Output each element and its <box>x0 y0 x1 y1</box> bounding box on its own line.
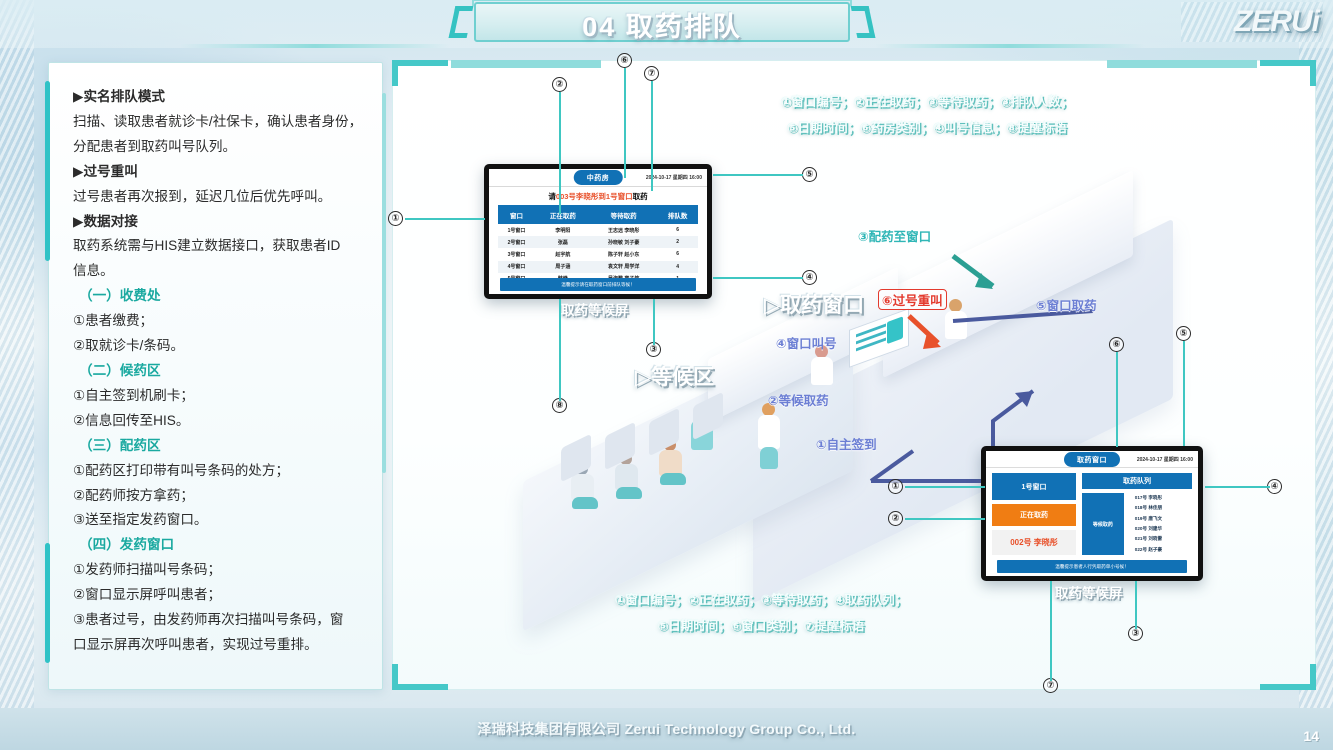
queue-cell-count: 2 <box>657 236 698 248</box>
step-label-window-call: ④窗口叫号 <box>776 333 837 352</box>
marker-win-2: ② <box>888 511 903 526</box>
step-label-self-checkin: ①自主签到 <box>816 434 877 453</box>
window-screen-body: 1号窗口 正在取药 002号 李晓彤 取药队列 等候取药 017号 李晓彤018… <box>986 468 1198 560</box>
legend-bottom-line-2: ⑤日期时间；⑥窗口类别；⑦提醒标语 <box>551 613 971 639</box>
table-row: 2号窗口张磊孙晓敏 刘子豪2 <box>498 236 699 248</box>
window-screen-datetime: 2024-10-17 星期四 16:00 <box>1137 456 1193 463</box>
lead-win-2 <box>905 518 985 520</box>
step-label-recall-missed: ⑥过号重叫 <box>878 289 947 310</box>
window-screen-tip: 温馨提示患者人行凭取药单小号候！ <box>997 560 1188 573</box>
left-hatch-decoration <box>0 0 34 750</box>
queue-cell-window: 2号窗口 <box>498 236 536 248</box>
list-item: 020号 刘建华 <box>1135 526 1192 532</box>
page-title: 04 取药排队 <box>452 2 872 46</box>
waiting-screen-device[interactable]: 中药房 2024-10-17 星期四 16:00 请003号李晓彤到1号窗口取药… <box>484 164 712 299</box>
header-left-line <box>180 44 450 48</box>
queue-cell-count: 4 <box>657 261 698 273</box>
waiting-screen-caption: 取药等候屏 <box>561 299 629 319</box>
queue-cell-waiting: 孙晓敏 刘子豪 <box>590 236 656 248</box>
legend-bottom-line-1: ①窗口编号；②正在取药；③等待取药；④取药队列； <box>551 587 971 613</box>
header-right-line <box>875 44 1145 48</box>
queue-column-header: 排队数 <box>657 205 698 224</box>
description-line: 过号患者再次报到，延迟几位后优先呼叫。 <box>73 185 362 210</box>
window-screen-display: 取药窗口 2024-10-17 星期四 16:00 1号窗口 正在取药 002号… <box>986 451 1198 576</box>
queue-column-header: 窗口 <box>498 205 536 224</box>
queue-cell-window: 3号窗口 <box>498 248 536 260</box>
description-line: （一）收费处 <box>73 284 362 309</box>
queue-row: 等候取药 017号 李晓彤018号 林佳朋019号 唐飞文020号 刘建华021… <box>1082 493 1192 555</box>
description-line: 分配患者到取药叫号队列。 <box>73 135 362 160</box>
lead-win-7 <box>1050 581 1052 681</box>
stage-bar-top-left <box>451 60 601 68</box>
list-item: 021号 刘晓雷 <box>1135 536 1192 542</box>
queue-table-body: 1号窗口李明阳王志远 李晓彤62号窗口张磊孙晓敏 刘子豪23号窗口赵宇航陈子轩 … <box>498 224 699 285</box>
call-highlight: 003号李晓彤到1号窗口 <box>556 192 633 201</box>
queue-title-box: 取药队列 <box>1082 473 1192 489</box>
description-line: 扫描、读取患者就诊卡/社保卡，确认患者身份， <box>73 110 362 135</box>
page-number: 14 <box>1303 728 1319 744</box>
lead-win-4 <box>1205 486 1270 488</box>
queue-cell-window: 4号窗口 <box>498 261 536 273</box>
zone-label-pharmacy-window: ▷取药窗口 <box>764 289 864 319</box>
marker-ws-4: ④ <box>802 270 817 285</box>
description-line: ▶数据对接 <box>73 210 362 235</box>
window-number-box: 1号窗口 <box>992 473 1076 500</box>
lead-ws-2 <box>559 92 561 214</box>
marker-win-1: ① <box>888 479 903 494</box>
waiting-screen-datetime: 2024-10-17 星期四 16:00 <box>646 174 702 181</box>
zone-label-waiting-area: ▷等候区 <box>635 361 714 391</box>
lead-ws-8 <box>559 299 561 401</box>
table-row: 1号窗口李明阳王志远 李晓彤6 <box>498 224 699 236</box>
queue-cell-current: 周子涵 <box>535 261 590 273</box>
description-line: ①配药区打印带有叫号条码的处方； <box>73 459 362 484</box>
lead-win-1 <box>905 486 985 488</box>
description-line: ①患者缴费； <box>73 309 362 334</box>
marker-win-6: ⑥ <box>1109 337 1124 352</box>
description-line: 取药系统需与HIS建立数据接口，获取患者ID <box>73 234 362 259</box>
call-prefix: 请 <box>548 192 556 201</box>
window-type-badge: 取药窗口 <box>1064 452 1120 467</box>
description-lines: ▶实名排队模式扫描、读取患者就诊卡/社保卡，确认患者身份，分配患者到取药叫号队列… <box>73 85 362 658</box>
queue-column-header: 等待取药 <box>590 205 656 224</box>
stage-corner-top-left <box>392 60 448 86</box>
waiting-label-box: 等候取药 <box>1082 493 1124 555</box>
waiting-screen-tip: 温馨提示请在取药窗口前排队等候！ <box>500 278 696 291</box>
table-row: 3号窗口赵宇航陈子轩 赵小东6 <box>498 248 699 260</box>
description-line: ①发药师扫描叫号条码； <box>73 558 362 583</box>
description-line: ②配药师按方拿药； <box>73 484 362 509</box>
marker-ws-2: ② <box>552 77 567 92</box>
waiting-chair-4 <box>693 392 723 441</box>
company-name: 泽瑞科技集团有限公司 Zerui Technology Group Co., L… <box>477 719 855 739</box>
description-line: ②取就诊卡/条码。 <box>73 334 362 359</box>
lead-ws-3 <box>653 299 655 345</box>
lead-ws-7 <box>651 81 653 191</box>
queue-cell-count: 6 <box>657 248 698 260</box>
legend-top-line-1: ①窗口编号；②正在取药；③等待取药；③排队人数； <box>737 89 1117 115</box>
waiting-chair-1 <box>561 434 591 483</box>
marker-win-5: ⑤ <box>1176 326 1191 341</box>
window-screen-topbar: 取药窗口 2024-10-17 星期四 16:00 <box>986 451 1198 468</box>
description-line: ②窗口显示屏呼叫患者； <box>73 583 362 608</box>
queue-cell-waiting: 陈子轩 赵小东 <box>590 248 656 260</box>
queue-cell-current: 张磊 <box>535 236 590 248</box>
legend-top-line-2: ⑤日期时间；⑥药房类别；④叫号信息；⑧提醒标语 <box>737 115 1117 141</box>
marker-ws-1: ① <box>388 211 403 226</box>
description-line: ▶实名排队模式 <box>73 85 362 110</box>
step-label-dispense-to-window: ③配药至窗口 <box>858 226 931 245</box>
stage-corner-top-right <box>1260 60 1316 86</box>
description-panel: ▶实名排队模式扫描、读取患者就诊卡/社保卡，确认患者身份，分配患者到取药叫号队列… <box>48 62 383 690</box>
window-screen-left-column: 1号窗口 正在取药 002号 李晓彤 <box>992 473 1076 555</box>
description-line: ③送至指定发药窗口。 <box>73 508 362 533</box>
list-item: 019号 唐飞文 <box>1135 516 1192 522</box>
lead-win-6 <box>1116 352 1118 447</box>
marker-ws-5: ⑤ <box>802 167 817 182</box>
legend-bottom: ①窗口编号；②正在取药；③等待取药；④取药队列； ⑤日期时间；⑥窗口类别；⑦提醒… <box>551 587 971 639</box>
waiting-screen-topbar: 中药房 2024-10-17 星期四 16:00 <box>489 169 707 187</box>
lead-ws-1 <box>405 218 485 220</box>
footer-bar: 泽瑞科技集团有限公司 Zerui Technology Group Co., L… <box>0 708 1333 750</box>
description-line: （二）候药区 <box>73 359 362 384</box>
waiting-chair-3 <box>649 408 679 457</box>
window-screen-right-column: 取药队列 等候取药 017号 李晓彤018号 林佳朋019号 唐飞文020号 刘… <box>1082 473 1192 555</box>
queue-cell-waiting: 袁文轩 周学洋 <box>590 261 656 273</box>
legend-top: ①窗口编号；②正在取药；③等待取药；③排队人数； ⑤日期时间；⑥药房类别；④叫号… <box>737 89 1117 141</box>
list-item: 017号 李晓彤 <box>1135 495 1192 501</box>
lead-ws-5 <box>713 174 803 176</box>
window-status-box: 正在取药 <box>992 504 1076 526</box>
diagram-stage: 中药房 2024-10-17 星期四 16:00 请003号李晓彤到1号窗口取药… <box>392 60 1316 690</box>
window-screen-device[interactable]: 取药窗口 2024-10-17 星期四 16:00 1号窗口 正在取药 002号… <box>981 446 1203 581</box>
step-label-wait-for-medicine: ②等候取药 <box>768 390 829 409</box>
description-line: ①自主签到机刷卡； <box>73 384 362 409</box>
queue-cell-current: 赵宇航 <box>535 248 590 260</box>
pharmacy-type-badge: 中药房 <box>574 170 623 185</box>
brand-logo: ZERUi <box>1187 5 1319 39</box>
description-line: ③患者过号，由发药师再次扫描叫号条码，窗 <box>73 608 362 633</box>
call-suffix: 取药 <box>633 192 648 201</box>
list-item: 022号 赵子豪 <box>1135 547 1192 553</box>
lead-win-3 <box>1135 581 1137 629</box>
queue-column-header: 正在取药 <box>535 205 590 224</box>
queue-items-list: 017号 李晓彤018号 林佳朋019号 唐飞文020号 刘建华021号 刘晓雷… <box>1128 493 1192 555</box>
window-screen-caption: 取药等候屏 <box>1055 582 1123 602</box>
call-announcement: 请003号李晓彤到1号窗口取药 <box>489 187 707 205</box>
description-line: ②信息回传至HIS。 <box>73 409 362 434</box>
description-line: ▶过号重叫 <box>73 160 362 185</box>
queue-table: 窗口正在取药等待取药排队数 1号窗口李明阳王志远 李晓彤62号窗口张磊孙晓敏 刘… <box>498 205 699 285</box>
description-line: （三）配药区 <box>73 434 362 459</box>
lead-ws-6 <box>624 68 626 178</box>
marker-ws-7: ⑦ <box>644 66 659 81</box>
description-line: 信息。 <box>73 259 362 284</box>
queue-cell-current: 李明阳 <box>535 224 590 236</box>
lead-ws-4 <box>713 277 803 279</box>
description-line: （四）发药窗口 <box>73 533 362 558</box>
queue-cell-window: 1号窗口 <box>498 224 536 236</box>
waiting-chair-2 <box>605 422 635 471</box>
panel-right-edge-accent <box>382 93 386 473</box>
page-title-wrapper: 04 取药排队 <box>452 2 872 46</box>
stage-bar-top-right <box>1107 60 1257 68</box>
stage-corner-bottom-left <box>392 664 448 690</box>
table-row: 4号窗口周子涵袁文轩 周学洋4 <box>498 261 699 273</box>
marker-ws-6: ⑥ <box>617 53 632 68</box>
step-label-window-pickup: ⑤窗口取药 <box>1036 295 1097 314</box>
queue-cell-waiting: 王志远 李晓彤 <box>590 224 656 236</box>
pharmacy-counter-main <box>883 170 1133 378</box>
stage-corner-bottom-right <box>1260 664 1316 690</box>
description-line: 口显示屏再次呼叫患者，实现过号重排。 <box>73 633 362 658</box>
lead-win-5 <box>1183 341 1185 446</box>
waiting-screen-display: 中药房 2024-10-17 星期四 16:00 请003号李晓彤到1号窗口取药… <box>489 169 707 294</box>
list-item: 018号 林佳朋 <box>1135 505 1192 511</box>
queue-cell-count: 6 <box>657 224 698 236</box>
current-patient-box: 002号 李晓彤 <box>992 530 1076 555</box>
queue-table-header: 窗口正在取药等待取药排队数 <box>498 205 699 224</box>
